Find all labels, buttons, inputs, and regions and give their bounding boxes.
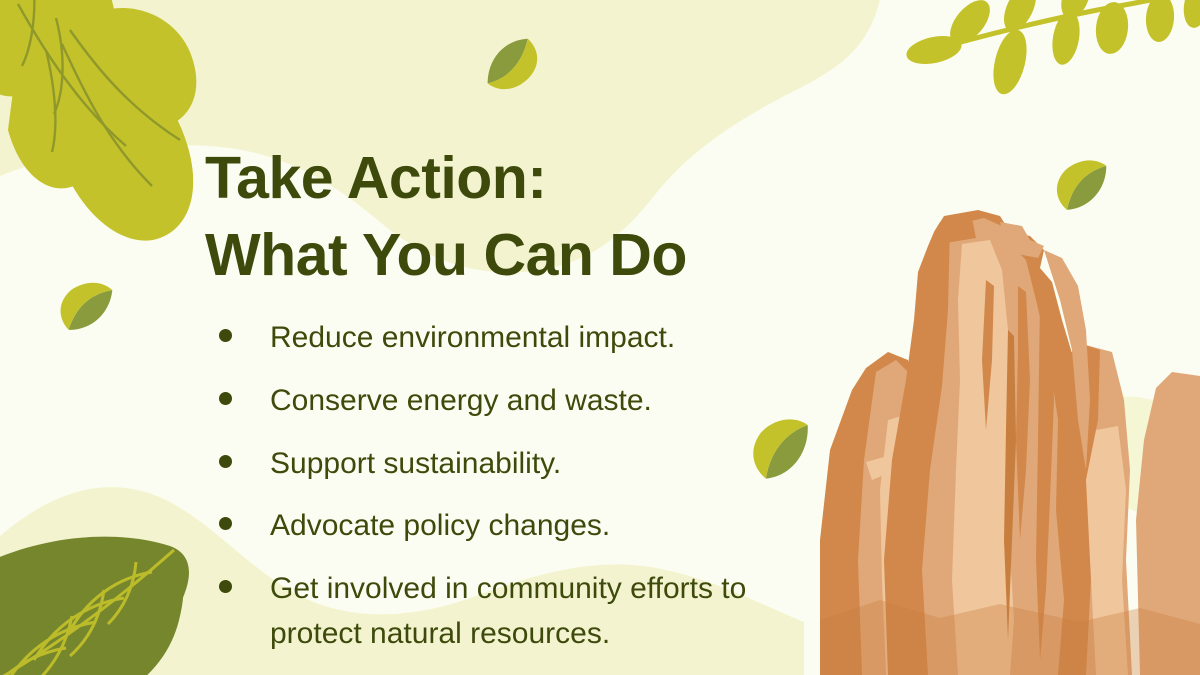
floating-leaf-half-dark	[478, 37, 537, 83]
rock-cap-right	[1000, 222, 1044, 258]
branch-leaf-8	[1056, 0, 1097, 23]
floating-leaf-half-light	[478, 38, 544, 95]
floating-leaf-half-dark	[62, 290, 120, 331]
rock-shoulder-right	[1044, 250, 1090, 470]
rock-tower-highlight	[952, 240, 1014, 675]
rock-column-right-shadow	[1016, 344, 1100, 675]
pale-blob-right-gap	[1098, 397, 1190, 521]
big-leaf-veins	[0, 550, 174, 675]
rock-ledge-left	[866, 452, 906, 480]
oak-leaf-lobe-7	[78, 8, 196, 129]
oak-leaf-lobe-3	[18, 0, 117, 110]
rock-column-left-face	[880, 414, 916, 675]
big-leaf-blade-main	[0, 537, 189, 675]
list-item-label: Conserve energy and waste.	[270, 378, 652, 424]
branch-leaf-9	[1181, 0, 1200, 29]
list-item: Support sustainability.	[205, 441, 825, 487]
oak-leaf-lobe-1	[0, 0, 54, 96]
rock-column-far-right	[1136, 372, 1200, 675]
oak-leaf-group	[0, 0, 196, 241]
rock-columns	[820, 210, 1200, 675]
floating-leaf-half-light	[1049, 154, 1116, 211]
floating-leaf-half-dark	[1057, 166, 1116, 212]
rock-crevice-2	[1016, 286, 1030, 540]
oak-leaf-lobe-2	[0, 0, 83, 102]
rock-tower-main	[884, 210, 1086, 675]
floating-leaf-left	[55, 278, 120, 333]
rock-column-right-highlight	[1086, 426, 1128, 675]
rock-base-shadow	[820, 600, 1200, 675]
slide-canvas: Take Action: What You Can Do Reduce envi…	[0, 0, 1200, 675]
list-item: Get involved in community efforts to pro…	[205, 566, 825, 657]
list-item: Advocate policy changes.	[205, 503, 825, 549]
bullet-dot-icon	[219, 329, 232, 342]
page-title: Take Action: What You Can Do	[205, 140, 825, 293]
oak-leaf-lobe-4	[8, 45, 104, 188]
branch-leaf-3	[1049, 9, 1084, 67]
branch-group	[904, 0, 1200, 98]
list-item: Conserve energy and waste.	[205, 378, 825, 424]
slide-content: Take Action: What You Can Do Reduce envi…	[205, 140, 825, 674]
rock-cap-left	[934, 218, 976, 244]
big-leaf-group	[0, 537, 189, 675]
rock-crevice-4	[1004, 330, 1016, 640]
floating-leaf-right	[1049, 154, 1116, 213]
branch-leaf-6	[943, 0, 998, 51]
oak-leaf-lobe-5	[48, 17, 172, 193]
bullet-dot-icon	[219, 580, 232, 593]
rock-tower-face	[922, 218, 1064, 675]
branch-leaf-7	[997, 0, 1042, 36]
branch-leaf-4	[1093, 0, 1130, 55]
bullet-dot-icon	[219, 517, 232, 530]
list-item-label: Advocate policy changes.	[270, 503, 610, 549]
bullet-dot-icon	[219, 455, 232, 468]
rock-column-right	[1016, 344, 1132, 675]
bullet-dot-icon	[219, 392, 232, 405]
rock-crevice-1	[982, 280, 994, 430]
floating-leaf-half-light	[55, 278, 119, 331]
oak-leaf-lobe-6	[60, 52, 193, 240]
action-list: Reduce environmental impact. Conserve en…	[205, 315, 825, 657]
floating-leaf-top-center	[478, 36, 545, 95]
branch-stem	[918, 0, 1200, 54]
rock-column-left-highlight	[858, 360, 916, 675]
rock-crevice-3	[1036, 300, 1054, 660]
rock-column-left	[820, 352, 926, 675]
branch-leaf-2	[987, 26, 1032, 97]
branch-leaf-1	[904, 31, 964, 68]
big-leaf-blade	[0, 542, 183, 675]
list-item-label: Reduce environmental impact.	[270, 315, 675, 361]
list-item-label: Get involved in community efforts to pro…	[270, 566, 810, 657]
big-leaf-midrib	[0, 550, 174, 675]
list-item: Reduce environmental impact.	[205, 315, 825, 361]
oak-leaf-veins	[18, 0, 180, 186]
branch-leaf-5	[1144, 0, 1175, 43]
list-item-label: Support sustainability.	[270, 441, 561, 487]
